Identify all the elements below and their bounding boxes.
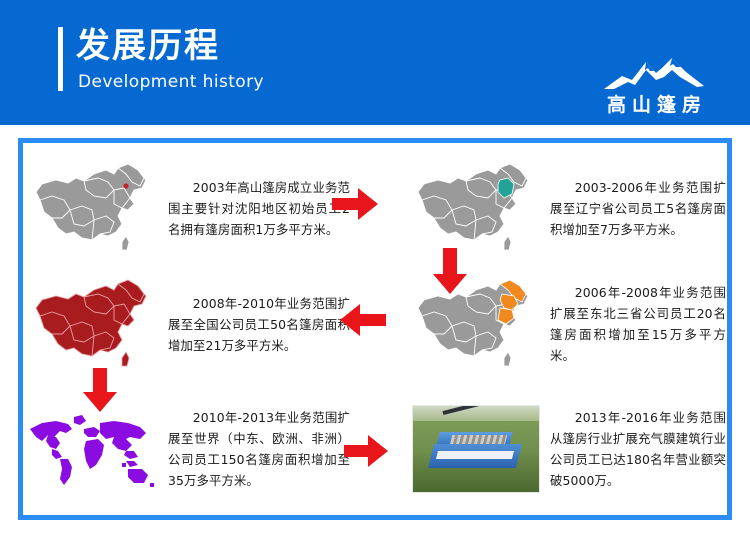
arrow-right-2-icon [342,432,390,470]
aerial-photo-tent-factory-image [404,397,546,501]
timeline-item-2013-2016: 2013年-2016年业务范围从篷房行业扩展充气膜建筑行业公司员工已达180名年… [404,390,728,508]
timeline-item-2003: 2003年高山篷房成立业务范围主要针对沈阳地区初始员工2名拥有篷房面积1万多平方… [22,152,352,264]
timeline-item-text: 2010年-2013年业务范围扩展至世界（中东、欧洲、非洲）公司员工150名篷房… [164,407,352,491]
timeline-item-2010-2013: 2010年-2013年业务范围扩展至世界（中东、欧洲、非洲）公司员工150名篷房… [22,390,352,508]
timeline-item-2008-2010: 2008年-2010年业务范围扩展至全国公司员工50名篷房面积增加至21万多平方… [22,268,352,380]
china-map-liaoning-highlight-icon [404,156,546,260]
page-title: 发展历程 [76,25,220,67]
china-map-shenyang-dot-icon [22,156,164,260]
company-logo: 高山篷房 [584,56,724,118]
timeline-item-text: 2003年高山篷房成立业务范围主要针对沈阳地区初始员工2名拥有篷房面积1万多平方… [164,177,352,240]
timeline-item-text: 2013年-2016年业务范围从篷房行业扩展充气膜建筑行业公司员工已达180名年… [546,407,728,491]
timeline-item-text: 2008年-2010年业务范围扩展至全国公司员工50名篷房面积增加至21万多平方… [164,293,352,356]
arrow-right-1-icon [330,184,380,224]
page-subtitle: Development history [78,72,264,92]
china-map-nationwide-red-icon [22,272,164,376]
timeline-item-text: 2006年-2008年业务范围扩展至东北三省公司员工20名篷房面积增加至15万多… [546,282,728,366]
arrow-left-1-icon [338,300,388,340]
logo-text: 高山篷房 [584,90,724,117]
timeline-item-text: 2003-2006年业务范围扩展至辽宁省公司员工5名篷房面积增加至7万多平方米。 [546,177,728,240]
page-header: 发展历程 Development history 高山篷房 [0,0,750,125]
mountain-logo-icon [602,56,706,90]
title-accent-bar [58,27,63,91]
arrow-down-2-icon [80,366,120,414]
arrow-down-1-icon [430,246,470,296]
china-map-northeast-orange-icon [404,272,546,376]
